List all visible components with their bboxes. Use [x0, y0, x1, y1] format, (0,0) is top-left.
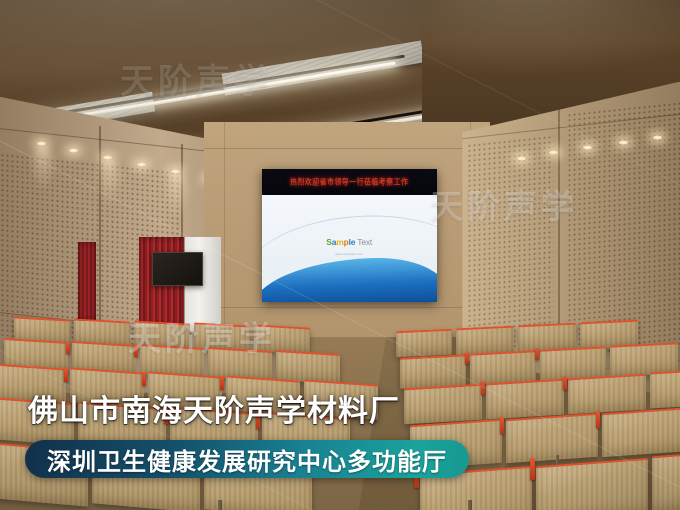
seat-arm-post	[530, 458, 535, 480]
downlight	[548, 150, 559, 155]
led-banner: 热烈欢迎省市领导一行莅临考察工作	[262, 169, 437, 194]
seat	[650, 370, 680, 409]
seat	[506, 413, 598, 463]
seat-arm-post	[134, 345, 138, 357]
seat-arm-post	[535, 348, 539, 360]
front-wall-seam	[204, 307, 490, 308]
seat	[486, 379, 564, 420]
seat-arm-post	[596, 411, 600, 428]
seat-arm-post	[481, 381, 485, 395]
seat-arm-post	[563, 376, 567, 390]
seat	[540, 346, 606, 380]
led-banner-text: 热烈欢迎省市领导一行莅临考察工作	[290, 176, 408, 188]
wall-light-pool	[94, 160, 124, 206]
slide-content: Sample Text www.sampletext.com	[262, 195, 437, 303]
downlight	[652, 135, 663, 140]
page-title: 佛山市南海天阶声学材料厂	[28, 386, 400, 430]
downlight	[516, 156, 527, 161]
status-badge-label: 深圳卫生健康发展研究中心多功能厅	[47, 442, 447, 477]
projection-screen: 热烈欢迎省市领导一行莅临考察工作 Sample Text www.samplet…	[262, 169, 437, 302]
downlight	[582, 145, 593, 150]
seat	[602, 407, 680, 457]
seat-leg	[468, 500, 472, 510]
stage-curtain-left	[78, 242, 96, 321]
seat-arm-post	[500, 417, 504, 434]
seat-leg	[218, 500, 222, 510]
seat-arm-post	[142, 372, 146, 386]
seat-arm-post	[64, 368, 68, 382]
auditorium-photo: 热烈欢迎省市领导一行莅临考察工作 Sample Text www.samplet…	[0, 0, 680, 510]
wall-light-pool	[28, 146, 58, 192]
slide-subtitle: www.sampletext.com	[262, 253, 437, 256]
seat	[536, 458, 648, 510]
seat	[470, 350, 536, 384]
seat	[404, 384, 482, 425]
seat-arm-post	[465, 352, 469, 364]
status-badge: 深圳卫生健康发展研究中心多功能厅	[25, 440, 469, 478]
front-wall-seam	[204, 148, 490, 149]
seat	[400, 354, 466, 388]
downlight	[68, 148, 79, 153]
seat	[652, 452, 680, 510]
slide-title: Sample Text	[262, 238, 437, 247]
downlight	[136, 162, 147, 167]
downlight	[618, 140, 629, 145]
seat	[568, 374, 646, 415]
wall-monitor	[152, 252, 202, 285]
seat-arm-post	[66, 342, 70, 354]
front-wall-seam	[224, 122, 225, 336]
seat	[254, 324, 310, 353]
seat	[396, 329, 452, 358]
wall-light-pool	[162, 174, 192, 220]
